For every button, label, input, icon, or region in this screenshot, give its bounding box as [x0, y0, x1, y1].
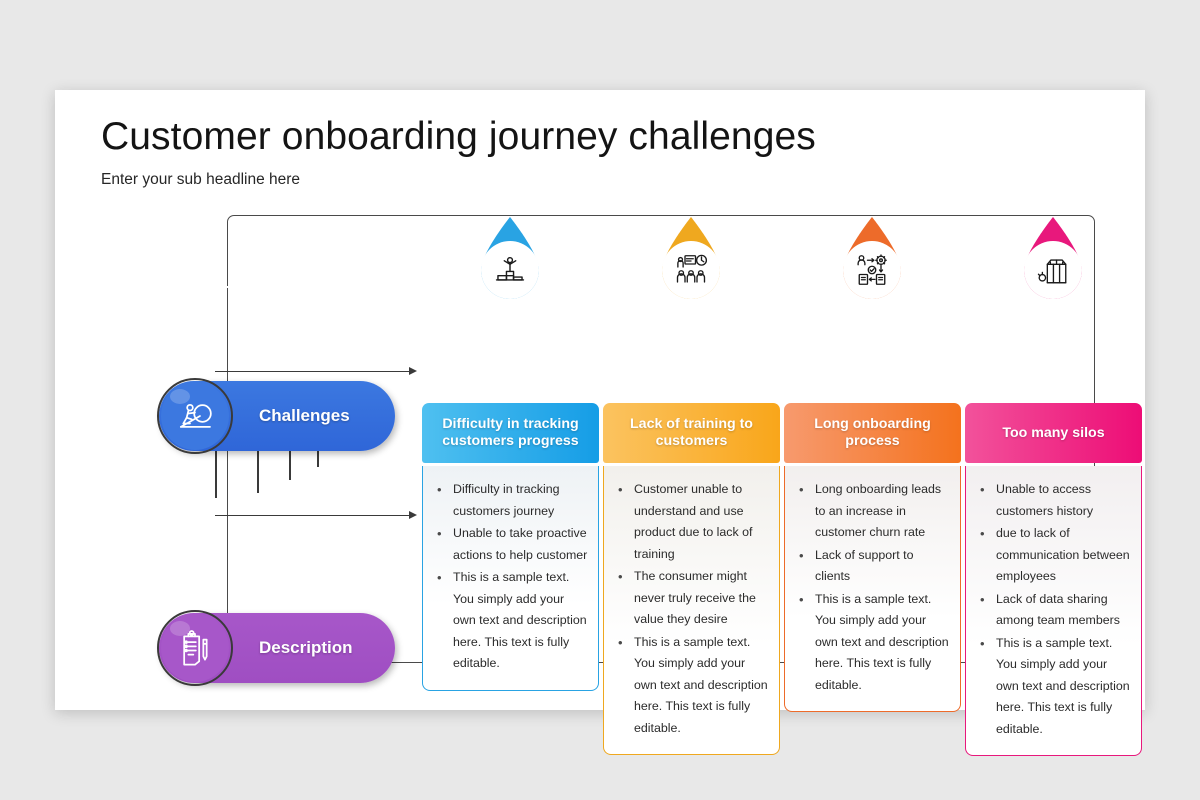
sidebar-item-description[interactable]: Description — [159, 613, 395, 683]
column-4-body: Unable to access customers history due t… — [965, 466, 1142, 756]
description-label: Description — [259, 638, 353, 658]
frame-notch — [225, 286, 285, 288]
column-2-bullet-list: Customer unable to understand and use pr… — [610, 479, 769, 739]
connector-arrow-description — [409, 511, 417, 519]
page-subtitle: Enter your sub headline here — [101, 171, 300, 189]
column-1: Difficulty in tracking customers progres… — [422, 403, 599, 691]
list-item: Long onboarding leads to an increase in … — [791, 479, 950, 544]
challenges-label: Challenges — [259, 406, 350, 426]
column-1-bullet-list: Difficulty in tracking customers journey… — [429, 479, 588, 675]
column-2: Lack of training to customers Customer u… — [603, 403, 780, 755]
process-workflow-icon — [843, 241, 901, 299]
list-item: The consumer might never truly receive t… — [610, 566, 769, 631]
list-item: Lack of data sharing among team members — [972, 589, 1131, 632]
column-3-body: Long onboarding leads to an increase in … — [784, 466, 961, 712]
training-presentation-icon — [662, 241, 720, 299]
person-pushing-boulder-icon — [161, 382, 229, 450]
list-item: This is a sample text. You simply add yo… — [972, 633, 1131, 741]
column-4-bullet-list: Unable to access customers history due t… — [972, 479, 1131, 740]
list-item: This is a sample text. You simply add yo… — [429, 567, 588, 675]
column-4-header[interactable]: Too many silos — [965, 403, 1142, 463]
column-1-body: Difficulty in tracking customers journey… — [422, 466, 599, 691]
marker-drop-3 — [831, 215, 913, 309]
column-2-body: Customer unable to understand and use pr… — [603, 466, 780, 755]
sidebar-item-challenges[interactable]: Challenges — [159, 381, 395, 451]
column-3: Long onboarding process Long onboarding … — [784, 403, 961, 712]
column-1-header[interactable]: Difficulty in tracking customers progres… — [422, 403, 599, 463]
connector-line-description — [215, 515, 410, 516]
list-item: due to lack of communication between emp… — [972, 523, 1131, 588]
podium-winner-icon — [481, 241, 539, 299]
list-item: Unable to take proactive actions to help… — [429, 523, 588, 566]
marker-drop-4 — [1012, 215, 1094, 309]
silos-icon — [1024, 241, 1082, 299]
list-item: Lack of support to clients — [791, 545, 950, 588]
clipboard-pencil-icon — [161, 614, 229, 682]
list-item: This is a sample text. You simply add yo… — [610, 632, 769, 740]
list-item: Difficulty in tracking customers journey — [429, 479, 588, 522]
list-item: This is a sample text. You simply add yo… — [791, 589, 950, 697]
connector-line-challenges — [215, 371, 410, 372]
slide-canvas: Customer onboarding journey challenges E… — [0, 0, 1200, 800]
list-item: Unable to access customers history — [972, 479, 1131, 522]
presentation-slide: Customer onboarding journey challenges E… — [55, 90, 1145, 710]
column-2-header[interactable]: Lack of training to customers — [603, 403, 780, 463]
column-3-header[interactable]: Long onboarding process — [784, 403, 961, 463]
page-title: Customer onboarding journey challenges — [101, 115, 816, 159]
column-3-bullet-list: Long onboarding leads to an increase in … — [791, 479, 950, 696]
list-item: Customer unable to understand and use pr… — [610, 479, 769, 565]
marker-drop-2 — [650, 215, 732, 309]
marker-drop-1 — [469, 215, 551, 309]
column-4: Too many silos Unable to access customer… — [965, 403, 1142, 756]
connector-arrow-challenges — [409, 367, 417, 375]
